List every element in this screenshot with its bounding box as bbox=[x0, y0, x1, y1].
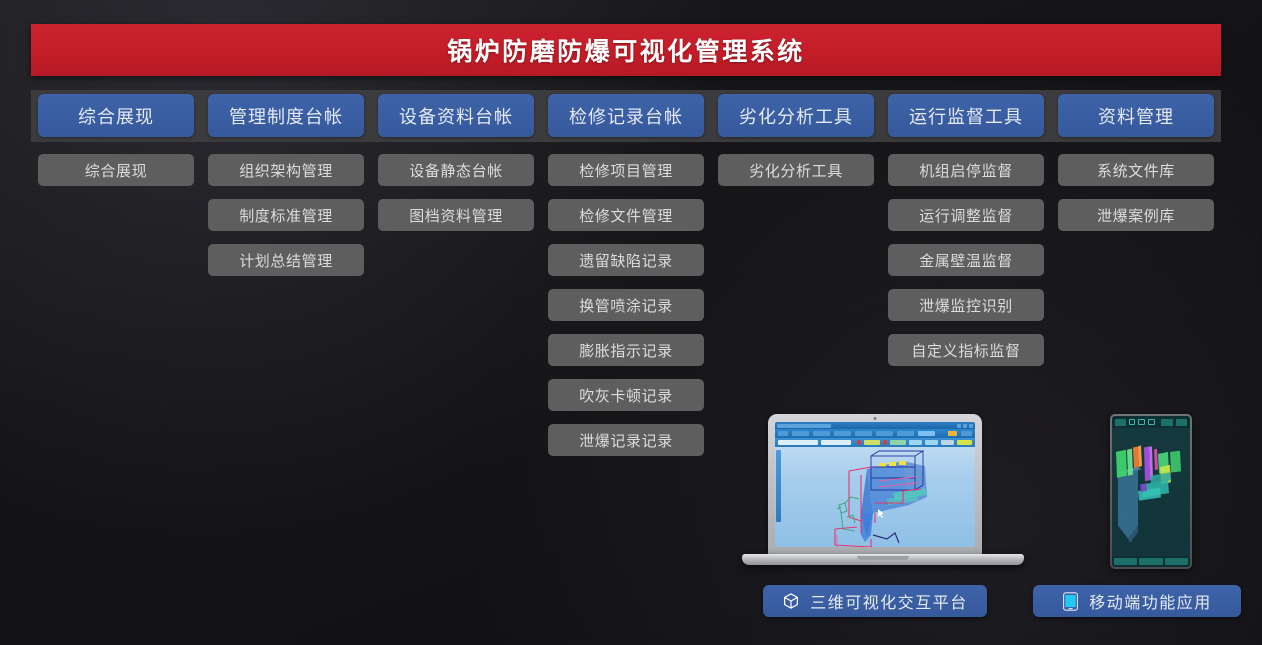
image-icon[interactable] bbox=[1148, 419, 1155, 425]
module-item-3-0[interactable]: 检修项目管理 bbox=[548, 154, 704, 186]
phone-tool-button[interactable] bbox=[1165, 558, 1188, 565]
module-item-2-0[interactable]: 设备静态台帐 bbox=[378, 154, 534, 186]
nav-tab-3[interactable]: 检修记录台帐 bbox=[548, 94, 704, 137]
module-item-2-1[interactable]: 图档资料管理 bbox=[378, 199, 534, 231]
nav-tab-0[interactable]: 综合展现 bbox=[38, 94, 194, 137]
module-item-6-0[interactable]: 系统文件库 bbox=[1058, 154, 1214, 186]
module-item-4-0[interactable]: 劣化分析工具 bbox=[718, 154, 874, 186]
viewer-canvas[interactable] bbox=[775, 447, 975, 547]
mobile-app-label: 移动端功能应用 bbox=[1089, 589, 1212, 613]
module-item-1-2[interactable]: 计划总结管理 bbox=[208, 244, 364, 276]
desktop-platform-label-button[interactable]: 三维可视化交互平台 bbox=[763, 585, 987, 617]
move-icon[interactable] bbox=[1138, 419, 1145, 425]
cube-icon bbox=[782, 592, 800, 610]
module-item-5-2[interactable]: 金属壁温监督 bbox=[888, 244, 1044, 276]
module-item-3-1[interactable]: 检修文件管理 bbox=[548, 199, 704, 231]
module-item-5-4[interactable]: 自定义指标监督 bbox=[888, 334, 1044, 366]
module-item-5-0[interactable]: 机组启停监督 bbox=[888, 154, 1044, 186]
nav-cell: 资料管理 bbox=[1051, 93, 1221, 138]
nav-tab-4[interactable]: 劣化分析工具 bbox=[718, 94, 874, 137]
module-item-3-3[interactable]: 换管喷涂记录 bbox=[548, 289, 704, 321]
phone-screen[interactable] bbox=[1112, 416, 1190, 567]
mobile-phone-icon bbox=[1062, 592, 1079, 611]
page-title: 锅炉防磨防爆可视化管理系统 bbox=[447, 32, 805, 68]
mobile-app-label-button[interactable]: 移动端功能应用 bbox=[1033, 585, 1241, 617]
nav-tab-1[interactable]: 管理制度台帐 bbox=[208, 94, 364, 137]
module-item-5-3[interactable]: 泄爆监控识别 bbox=[888, 289, 1044, 321]
module-item-5-1[interactable]: 运行调整监督 bbox=[888, 199, 1044, 231]
module-item-1-0[interactable]: 组织架构管理 bbox=[208, 154, 364, 186]
module-column-4: 劣化分析工具 bbox=[711, 154, 881, 456]
desktop-platform-label: 三维可视化交互平台 bbox=[810, 589, 968, 613]
phone-app-toolbar[interactable] bbox=[1112, 416, 1190, 428]
nav-tab-2[interactable]: 设备资料台帐 bbox=[378, 94, 534, 137]
laptop-lid bbox=[768, 414, 982, 556]
nav-cell: 管理制度台帐 bbox=[201, 93, 371, 138]
nav-cell: 运行监督工具 bbox=[881, 93, 1051, 138]
phone-bottom-toolbar[interactable] bbox=[1112, 556, 1190, 567]
phone-tool-button[interactable] bbox=[1114, 558, 1137, 565]
module-item-3-4[interactable]: 膨胀指示记录 bbox=[548, 334, 704, 366]
nav-cell: 设备资料台帐 bbox=[371, 93, 541, 138]
module-column-5: 机组启停监督运行调整监督金属壁温监督泄爆监控识别自定义指标监督 bbox=[881, 154, 1051, 456]
phone-viewer-canvas[interactable] bbox=[1112, 428, 1190, 556]
laptop-screen[interactable] bbox=[775, 422, 975, 547]
module-item-1-1[interactable]: 制度标准管理 bbox=[208, 199, 364, 231]
module-column-2: 设备静态台帐图档资料管理 bbox=[371, 154, 541, 456]
layers-icon[interactable] bbox=[1129, 419, 1136, 425]
desktop-showcase-laptop bbox=[742, 414, 1024, 574]
app-toolbar[interactable] bbox=[775, 438, 975, 447]
app-menubar[interactable] bbox=[775, 429, 975, 438]
nav-cell: 检修记录台帐 bbox=[541, 93, 711, 138]
app-titlebar bbox=[775, 422, 975, 429]
boiler-3d-model bbox=[775, 447, 975, 547]
app-title-banner: 锅炉防磨防爆可视化管理系统 bbox=[31, 24, 1221, 76]
nav-tab-5[interactable]: 运行监督工具 bbox=[888, 94, 1044, 137]
laptop-base bbox=[742, 554, 1024, 565]
module-item-3-2[interactable]: 遗留缺陷记录 bbox=[548, 244, 704, 276]
laptop-notch bbox=[857, 556, 909, 560]
module-item-3-6[interactable]: 泄爆记录记录 bbox=[548, 424, 704, 456]
module-item-3-5[interactable]: 吹灰卡顿记录 bbox=[548, 379, 704, 411]
primary-nav: 综合展现管理制度台帐设备资料台帐检修记录台帐劣化分析工具运行监督工具资料管理 bbox=[31, 93, 1221, 138]
module-column-0: 综合展现 bbox=[31, 154, 201, 456]
nav-tab-6[interactable]: 资料管理 bbox=[1058, 94, 1214, 137]
mobile-showcase-phone bbox=[1110, 414, 1192, 569]
module-column-6: 系统文件库泄爆案例库 bbox=[1051, 154, 1221, 456]
laptop-camera-icon bbox=[874, 417, 877, 420]
module-item-0-0[interactable]: 综合展现 bbox=[38, 154, 194, 186]
phone-tool-button[interactable] bbox=[1139, 558, 1162, 565]
module-columns: 综合展现组织架构管理制度标准管理计划总结管理设备静态台帐图档资料管理检修项目管理… bbox=[31, 154, 1221, 456]
module-column-1: 组织架构管理制度标准管理计划总结管理 bbox=[201, 154, 371, 456]
phone-boiler-3d-model bbox=[1112, 428, 1190, 556]
module-column-3: 检修项目管理检修文件管理遗留缺陷记录换管喷涂记录膨胀指示记录吹灰卡顿记录泄爆记录… bbox=[541, 154, 711, 456]
nav-cell: 劣化分析工具 bbox=[711, 93, 881, 138]
module-item-6-1[interactable]: 泄爆案例库 bbox=[1058, 199, 1214, 231]
nav-cell: 综合展现 bbox=[31, 93, 201, 138]
